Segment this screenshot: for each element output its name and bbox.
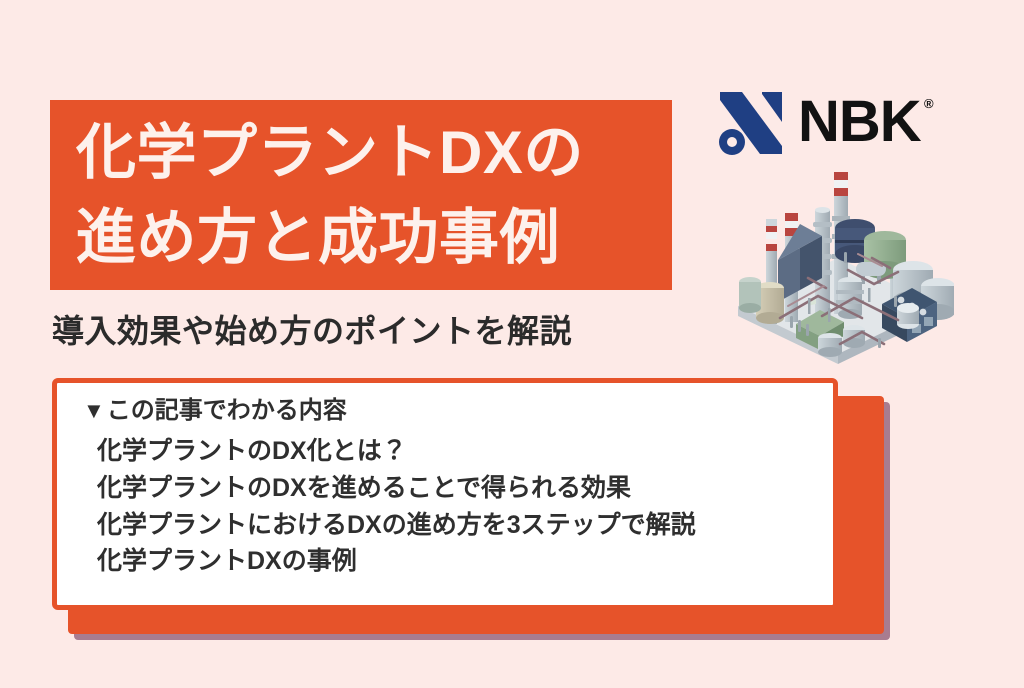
list-item[interactable]: 化学プラントのDXを進めることで得られる効果 [97, 470, 833, 507]
contents-list: 化学プラントのDX化とは？ 化学プラントのDXを進めることで得られる効果 化学プ… [83, 433, 833, 580]
nbk-logo: NBK ® [712, 84, 934, 160]
page-subtitle: 導入効果や始め方のポイントを解説 [52, 306, 572, 352]
triangle-down-icon: ▼ [83, 400, 105, 422]
list-item[interactable]: 化学プラントにおけるDXの進め方を3ステップで解説 [97, 507, 833, 544]
contents-card: ▼ この記事でわかる内容 化学プラントのDX化とは？ 化学プラントのDXを進める… [52, 378, 838, 610]
contents-heading-label: この記事でわかる内容 [107, 399, 347, 423]
nbk-n-mark-icon [712, 84, 790, 160]
isometric-chemical-plant-illustration [722, 158, 954, 380]
list-item[interactable]: 化学プラントのDX化とは？ [97, 433, 833, 470]
registered-trademark-icon: ® [924, 96, 934, 111]
article-contents-box: ▼ この記事でわかる内容 化学プラントのDX化とは？ 化学プラントのDXを進める… [52, 378, 890, 640]
page-title-line-2: 進め方と成功事例 [76, 195, 672, 280]
contents-heading: ▼ この記事でわかる内容 [83, 399, 833, 423]
page-title-line-1: 化学プラントDXの [76, 110, 672, 195]
list-item[interactable]: 化学プラントDXの事例 [97, 543, 833, 580]
title-banner: 化学プラントDXの 進め方と成功事例 [50, 100, 672, 290]
nbk-wordmark: NBK [798, 86, 921, 158]
slide-canvas: 化学プラントDXの 進め方と成功事例 導入効果や始め方のポイントを解説 NBK … [0, 0, 1024, 688]
